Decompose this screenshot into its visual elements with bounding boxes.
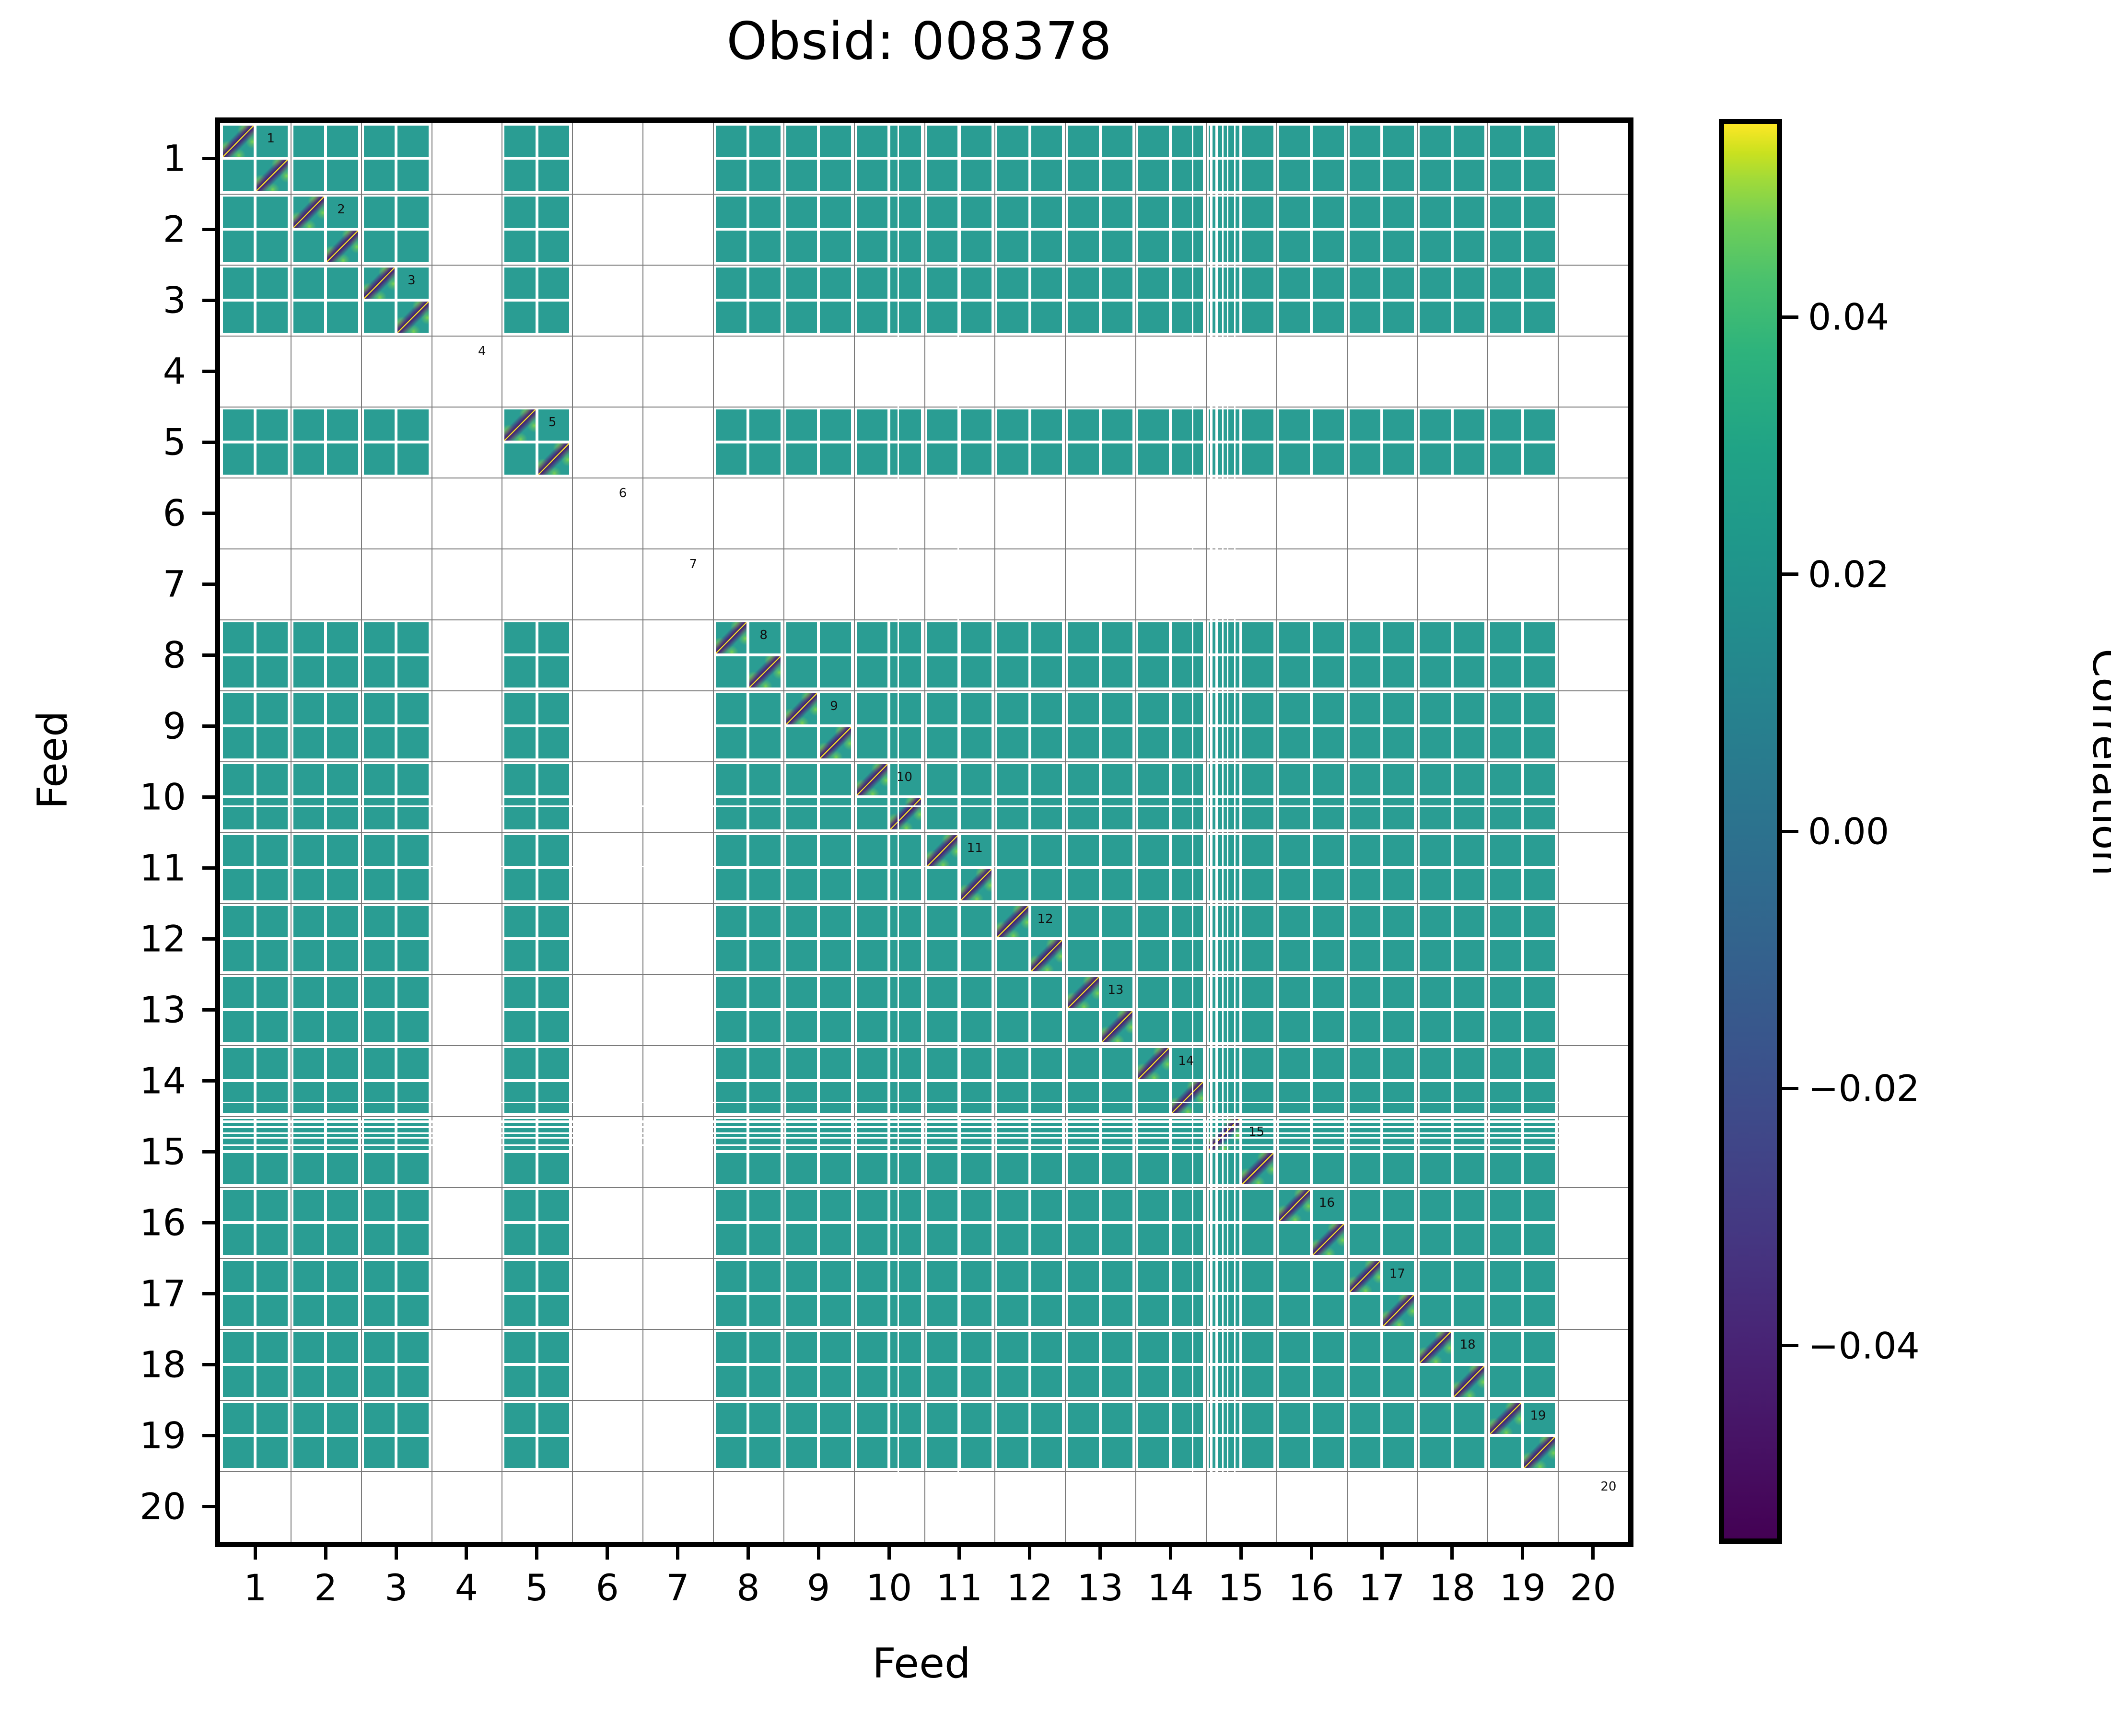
matrix-cell bbox=[1279, 977, 1310, 1008]
matrix-cell bbox=[538, 1224, 569, 1255]
matrix-cell bbox=[1102, 622, 1132, 653]
matrix-cell bbox=[1172, 1437, 1202, 1468]
colorbar-tick-label: −0.04 bbox=[1808, 1324, 1920, 1367]
matrix-cell bbox=[1138, 1332, 1169, 1363]
matrix-cell-diagonal bbox=[1138, 1048, 1169, 1079]
matrix-cell bbox=[1102, 160, 1132, 191]
matrix-cell bbox=[1068, 693, 1098, 724]
matrix-cell bbox=[1454, 622, 1484, 653]
matrix-cell bbox=[961, 1190, 991, 1221]
matrix-cell bbox=[1454, 1403, 1484, 1434]
matrix-cell bbox=[1138, 409, 1169, 441]
matrix-cell bbox=[716, 231, 746, 262]
matrix-cell bbox=[857, 1190, 887, 1221]
matrix-cell-diagonal bbox=[293, 197, 324, 228]
matrix-cell bbox=[1524, 940, 1555, 971]
matrix-cell bbox=[364, 1082, 395, 1113]
matrix-cell bbox=[257, 443, 287, 475]
matrix-cell bbox=[820, 622, 851, 653]
matrix-cell-diagonal bbox=[538, 443, 569, 475]
matrix-cell bbox=[504, 1332, 535, 1363]
matrix-cell bbox=[538, 1261, 569, 1292]
y-axis-tick-label: 6 bbox=[95, 492, 186, 535]
matrix-cell bbox=[1172, 1366, 1202, 1397]
matrix-cell bbox=[1313, 693, 1343, 724]
matrix-cell bbox=[504, 302, 535, 333]
x-axis-tick bbox=[887, 1547, 891, 1560]
y-axis-tick bbox=[202, 1150, 215, 1153]
matrix-cell bbox=[293, 302, 324, 333]
matrix-cell bbox=[397, 1153, 428, 1184]
matrix-cell bbox=[1454, 977, 1484, 1008]
matrix-cell bbox=[1313, 1366, 1343, 1397]
matrix-cell bbox=[1102, 126, 1132, 157]
matrix-cell bbox=[749, 1048, 780, 1079]
matrix-cell bbox=[1279, 1082, 1310, 1113]
flagged-channel-column bbox=[1222, 123, 1224, 1542]
matrix-cell bbox=[1102, 940, 1132, 971]
matrix-cell bbox=[749, 1153, 780, 1184]
y-axis-tick bbox=[202, 157, 215, 160]
matrix-cell bbox=[749, 727, 780, 758]
matrix-cell bbox=[293, 268, 324, 299]
x-axis-tick bbox=[957, 1547, 961, 1560]
matrix-cell bbox=[327, 1295, 358, 1326]
matrix-cell bbox=[1524, 835, 1555, 866]
matrix-cell bbox=[1313, 764, 1343, 795]
matrix-cell bbox=[1490, 1295, 1521, 1326]
matrix-cell bbox=[364, 727, 395, 758]
matrix-cell bbox=[1490, 798, 1521, 829]
matrix-cell bbox=[364, 197, 395, 228]
matrix-cell bbox=[538, 1366, 569, 1397]
matrix-cell bbox=[1454, 835, 1484, 866]
matrix-cell bbox=[961, 443, 991, 475]
matrix-cell bbox=[927, 1011, 958, 1042]
page-title: Obsid: 008378 bbox=[0, 13, 1839, 70]
x-axis-tick bbox=[254, 1547, 257, 1560]
matrix-cell bbox=[786, 268, 817, 299]
matrix-cell bbox=[397, 977, 428, 1008]
matrix-cell bbox=[997, 977, 1028, 1008]
matrix-cell bbox=[1031, 869, 1062, 900]
matrix-cell bbox=[890, 1403, 921, 1434]
colorbar-label: Correlation bbox=[2083, 571, 2111, 954]
y-axis-tick-label: 9 bbox=[95, 705, 186, 747]
matrix-cell bbox=[1279, 1224, 1310, 1255]
matrix-cell bbox=[364, 693, 395, 724]
matrix-cell bbox=[1242, 409, 1273, 441]
matrix-cell bbox=[293, 1153, 324, 1184]
matrix-cell-diagonal bbox=[1383, 1295, 1414, 1326]
x-axis-tick-label: 1 bbox=[244, 1566, 267, 1609]
matrix-cell-diagonal bbox=[1420, 1332, 1450, 1363]
matrix-cell bbox=[716, 906, 746, 937]
matrix-cell bbox=[327, 940, 358, 971]
matrix-cell bbox=[1068, 1332, 1098, 1363]
matrix-cell bbox=[257, 1190, 287, 1221]
x-axis-tick-label: 18 bbox=[1429, 1566, 1476, 1609]
matrix-cell bbox=[1068, 1153, 1098, 1184]
matrix-cell bbox=[820, 409, 851, 441]
matrix-cell bbox=[1102, 1332, 1132, 1363]
matrix-cell-diagonal bbox=[961, 869, 991, 900]
matrix-cell bbox=[1313, 126, 1343, 157]
matrix-cell bbox=[327, 1332, 358, 1363]
matrix-cell bbox=[1102, 1437, 1132, 1468]
y-axis-tick bbox=[202, 228, 215, 231]
matrix-cell bbox=[257, 798, 287, 829]
matrix-cell bbox=[293, 798, 324, 829]
matrix-cell bbox=[1068, 869, 1098, 900]
matrix-cell bbox=[1420, 1366, 1450, 1397]
matrix-cell bbox=[397, 1332, 428, 1363]
matrix-cell bbox=[1313, 302, 1343, 333]
matrix-cell bbox=[1350, 906, 1380, 937]
matrix-cell bbox=[1172, 1332, 1202, 1363]
x-axis-tick bbox=[1450, 1547, 1454, 1560]
matrix-cell bbox=[1031, 1403, 1062, 1434]
y-axis-tick bbox=[202, 795, 215, 799]
matrix-cell bbox=[1490, 160, 1521, 191]
matrix-cell bbox=[1242, 764, 1273, 795]
matrix-cell bbox=[890, 977, 921, 1008]
matrix-cell bbox=[857, 835, 887, 866]
matrix-cell bbox=[1068, 1295, 1098, 1326]
matrix-cell bbox=[1102, 443, 1132, 475]
matrix-cell bbox=[293, 1082, 324, 1113]
matrix-cell bbox=[857, 1224, 887, 1255]
matrix-cell bbox=[327, 1261, 358, 1292]
y-axis-tick-label: 14 bbox=[95, 1060, 186, 1102]
matrix-cell bbox=[997, 443, 1028, 475]
matrix-cell bbox=[1383, 231, 1414, 262]
matrix-cell bbox=[397, 656, 428, 687]
matrix-cell bbox=[1524, 1153, 1555, 1184]
matrix-cell bbox=[1138, 1403, 1169, 1434]
matrix-cell-diagonal bbox=[1350, 1261, 1380, 1292]
matrix-cell bbox=[1279, 197, 1310, 228]
matrix-cell bbox=[1350, 1295, 1380, 1326]
matrix-cell bbox=[1383, 906, 1414, 937]
matrix-cell bbox=[1454, 1011, 1484, 1042]
x-axis-tick bbox=[606, 1547, 609, 1560]
matrix-cell bbox=[857, 197, 887, 228]
matrix-cell bbox=[1420, 656, 1450, 687]
matrix-cell bbox=[961, 977, 991, 1008]
matrix-cell bbox=[857, 268, 887, 299]
matrix-cell bbox=[749, 764, 780, 795]
matrix-cell bbox=[890, 1190, 921, 1221]
matrix-cell bbox=[1102, 727, 1132, 758]
matrix-cell bbox=[1031, 1048, 1062, 1079]
matrix-cell bbox=[327, 160, 358, 191]
matrix-cell bbox=[716, 1224, 746, 1255]
matrix-cell bbox=[1383, 798, 1414, 829]
matrix-cell bbox=[786, 1048, 817, 1079]
matrix-cell bbox=[997, 727, 1028, 758]
matrix-cell bbox=[961, 798, 991, 829]
matrix-cell bbox=[1242, 1190, 1273, 1221]
matrix-cell bbox=[716, 197, 746, 228]
matrix-cell bbox=[504, 1153, 535, 1184]
matrix-cell bbox=[223, 1082, 254, 1113]
matrix-cell bbox=[1524, 197, 1555, 228]
matrix-cell bbox=[1279, 727, 1310, 758]
feed-index-annotation: 10 bbox=[897, 770, 912, 784]
matrix-cell bbox=[223, 798, 254, 829]
matrix-cell bbox=[1350, 1366, 1380, 1397]
matrix-cell bbox=[538, 835, 569, 866]
matrix-cell bbox=[1383, 622, 1414, 653]
matrix-cell bbox=[1420, 1295, 1450, 1326]
matrix-cell bbox=[1420, 126, 1450, 157]
matrix-cell bbox=[1242, 977, 1273, 1008]
matrix-cell bbox=[1031, 1224, 1062, 1255]
matrix-cell-diagonal bbox=[327, 231, 358, 262]
feed-index-annotation: 8 bbox=[759, 628, 768, 642]
matrix-cell bbox=[1454, 1153, 1484, 1184]
matrix-cell bbox=[1350, 302, 1380, 333]
matrix-cell bbox=[997, 1011, 1028, 1042]
matrix-cell bbox=[257, 622, 287, 653]
grid-line-horizontal bbox=[220, 1400, 1628, 1401]
matrix-cell bbox=[1138, 1295, 1169, 1326]
matrix-cell bbox=[1420, 727, 1450, 758]
matrix-cell bbox=[749, 268, 780, 299]
flagged-channel-row bbox=[220, 1102, 1628, 1103]
matrix-cell bbox=[1172, 1011, 1202, 1042]
y-axis-tick-label: 10 bbox=[95, 776, 186, 818]
x-axis-tick-label: 15 bbox=[1218, 1566, 1264, 1609]
matrix-cell bbox=[1524, 302, 1555, 333]
matrix-cell bbox=[504, 693, 535, 724]
matrix-cell bbox=[1490, 977, 1521, 1008]
matrix-cell bbox=[1172, 693, 1202, 724]
matrix-cell bbox=[504, 443, 535, 475]
matrix-cell bbox=[1138, 1082, 1169, 1113]
matrix-cell bbox=[890, 869, 921, 900]
x-axis-tick bbox=[1239, 1547, 1243, 1560]
matrix-cell bbox=[716, 656, 746, 687]
matrix-cell bbox=[820, 1403, 851, 1434]
matrix-cell bbox=[1102, 409, 1132, 441]
matrix-cell bbox=[223, 1153, 254, 1184]
matrix-cell bbox=[1313, 977, 1343, 1008]
matrix-cell bbox=[1420, 302, 1450, 333]
matrix-cell bbox=[327, 656, 358, 687]
matrix-cell bbox=[1031, 622, 1062, 653]
matrix-cell bbox=[538, 1295, 569, 1326]
matrix-cell bbox=[1242, 160, 1273, 191]
matrix-cell bbox=[716, 940, 746, 971]
y-axis-tick bbox=[202, 937, 215, 941]
matrix-cell bbox=[997, 1082, 1028, 1113]
matrix-cell bbox=[997, 268, 1028, 299]
matrix-cell bbox=[1102, 1295, 1132, 1326]
matrix-cell bbox=[397, 1224, 428, 1255]
matrix-cell bbox=[997, 656, 1028, 687]
matrix-cell bbox=[997, 1366, 1028, 1397]
matrix-cell bbox=[293, 835, 324, 866]
matrix-cell bbox=[1102, 1190, 1132, 1221]
matrix-cell bbox=[890, 231, 921, 262]
matrix-cell bbox=[1454, 443, 1484, 475]
matrix-cell bbox=[293, 1261, 324, 1292]
matrix-cell bbox=[1454, 409, 1484, 441]
matrix-cell bbox=[327, 1437, 358, 1468]
matrix-cell bbox=[1383, 1048, 1414, 1079]
matrix-cell bbox=[397, 764, 428, 795]
matrix-cell bbox=[223, 302, 254, 333]
matrix-cell bbox=[749, 977, 780, 1008]
matrix-cell bbox=[890, 1011, 921, 1042]
matrix-cell bbox=[1172, 764, 1202, 795]
matrix-cell bbox=[997, 126, 1028, 157]
matrix-cell bbox=[223, 1437, 254, 1468]
matrix-cell bbox=[1524, 443, 1555, 475]
matrix-cell bbox=[1350, 1332, 1380, 1363]
matrix-cell bbox=[1068, 197, 1098, 228]
matrix-cell bbox=[293, 656, 324, 687]
matrix-cell bbox=[397, 1048, 428, 1079]
matrix-cell bbox=[997, 940, 1028, 971]
matrix-cell bbox=[327, 869, 358, 900]
matrix-cell bbox=[293, 409, 324, 441]
matrix-cell bbox=[223, 231, 254, 262]
matrix-cell bbox=[1102, 835, 1132, 866]
matrix-cell bbox=[397, 1261, 428, 1292]
y-axis-tick bbox=[202, 1221, 215, 1224]
matrix-cell bbox=[397, 869, 428, 900]
y-axis-tick-label: 13 bbox=[95, 989, 186, 1031]
matrix-cell bbox=[1420, 1190, 1450, 1221]
matrix-cell bbox=[1031, 197, 1062, 228]
x-axis-tick bbox=[817, 1547, 820, 1560]
matrix-cell bbox=[786, 1224, 817, 1255]
matrix-cell bbox=[749, 1190, 780, 1221]
matrix-cell bbox=[1350, 268, 1380, 299]
matrix-cell bbox=[1279, 622, 1310, 653]
matrix-cell bbox=[1279, 1403, 1310, 1434]
matrix-cell bbox=[820, 1048, 851, 1079]
matrix-cell bbox=[716, 1048, 746, 1079]
matrix-cell bbox=[1524, 977, 1555, 1008]
matrix-cell bbox=[364, 443, 395, 475]
y-axis-tick-label: 11 bbox=[95, 847, 186, 889]
matrix-cell bbox=[293, 1011, 324, 1042]
matrix-cell bbox=[786, 409, 817, 441]
matrix-cell bbox=[1454, 268, 1484, 299]
matrix-cell bbox=[1031, 727, 1062, 758]
matrix-cell bbox=[1383, 693, 1414, 724]
matrix-cell bbox=[364, 1403, 395, 1434]
matrix-cell bbox=[961, 1224, 991, 1255]
matrix-cell bbox=[716, 764, 746, 795]
matrix-cell bbox=[786, 197, 817, 228]
matrix-cell bbox=[1383, 869, 1414, 900]
matrix-cell bbox=[538, 302, 569, 333]
y-axis-tick bbox=[202, 1008, 215, 1012]
matrix-cell bbox=[504, 126, 535, 157]
matrix-cell bbox=[504, 1437, 535, 1468]
y-axis-tick bbox=[202, 1505, 215, 1508]
flagged-channel-row bbox=[220, 1120, 1628, 1123]
matrix-cell-diagonal bbox=[1490, 1403, 1521, 1434]
matrix-cell bbox=[1524, 622, 1555, 653]
matrix-cell bbox=[293, 1295, 324, 1326]
matrix-cell bbox=[1242, 1366, 1273, 1397]
matrix-cell bbox=[1031, 160, 1062, 191]
matrix-cell bbox=[504, 268, 535, 299]
matrix-cell bbox=[1031, 798, 1062, 829]
matrix-cell bbox=[1313, 409, 1343, 441]
matrix-cell bbox=[1138, 906, 1169, 937]
matrix-cell bbox=[327, 1224, 358, 1255]
matrix-cell bbox=[857, 977, 887, 1008]
feed-index-annotation: 15 bbox=[1248, 1125, 1264, 1139]
matrix-cell bbox=[1313, 231, 1343, 262]
matrix-cell bbox=[997, 1224, 1028, 1255]
matrix-cell bbox=[716, 409, 746, 441]
matrix-cell bbox=[1350, 764, 1380, 795]
matrix-cell bbox=[890, 409, 921, 441]
matrix-cell bbox=[364, 302, 395, 333]
matrix-cell bbox=[1420, 693, 1450, 724]
matrix-cell bbox=[927, 409, 958, 441]
matrix-cell bbox=[820, 977, 851, 1008]
feed-index-annotation: 20 bbox=[1600, 1480, 1616, 1494]
x-axis-tick bbox=[324, 1547, 327, 1560]
matrix-cell bbox=[749, 798, 780, 829]
matrix-cell bbox=[364, 656, 395, 687]
matrix-cell bbox=[327, 906, 358, 937]
matrix-cell bbox=[257, 693, 287, 724]
matrix-cell bbox=[1068, 656, 1098, 687]
matrix-cell bbox=[223, 835, 254, 866]
matrix-cell bbox=[786, 798, 817, 829]
matrix-cell bbox=[1138, 764, 1169, 795]
matrix-cell bbox=[786, 906, 817, 937]
y-axis-tick bbox=[202, 299, 215, 302]
matrix-cell bbox=[364, 1295, 395, 1326]
matrix-cell bbox=[786, 1153, 817, 1184]
matrix-cell bbox=[257, 1295, 287, 1326]
y-axis-tick bbox=[202, 1292, 215, 1295]
matrix-cell bbox=[820, 940, 851, 971]
matrix-cell bbox=[1454, 231, 1484, 262]
matrix-cell bbox=[786, 1261, 817, 1292]
x-axis-tick-label: 13 bbox=[1077, 1566, 1123, 1609]
matrix-cell bbox=[1138, 656, 1169, 687]
matrix-cell-diagonal bbox=[504, 409, 535, 441]
matrix-cell-diagonal bbox=[1313, 1224, 1343, 1255]
matrix-cell bbox=[857, 302, 887, 333]
colorbar-tick bbox=[1782, 1344, 1798, 1347]
matrix-cell bbox=[327, 835, 358, 866]
colorbar-tick bbox=[1782, 830, 1798, 833]
matrix-cell bbox=[1420, 977, 1450, 1008]
matrix-cell bbox=[961, 727, 991, 758]
matrix-cell bbox=[364, 409, 395, 441]
matrix-cell bbox=[364, 231, 395, 262]
matrix-cell bbox=[1242, 126, 1273, 157]
y-axis-tick bbox=[202, 1434, 215, 1437]
matrix-cell bbox=[538, 1082, 569, 1113]
matrix-cell bbox=[1350, 443, 1380, 475]
matrix-cell bbox=[1313, 1153, 1343, 1184]
y-axis-tick-label: 4 bbox=[95, 350, 186, 393]
